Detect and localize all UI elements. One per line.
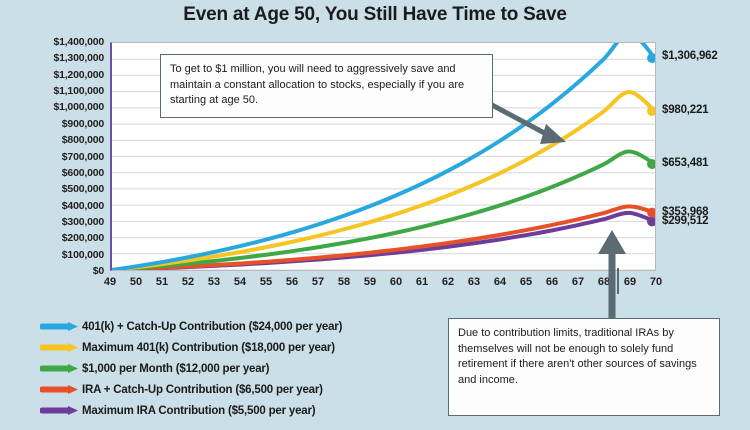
x-axis-tick-label: 67 <box>572 276 584 288</box>
x-axis-tick-label: 56 <box>286 276 298 288</box>
x-axis-tick-label: 62 <box>442 276 454 288</box>
legend-item-label: Maximum 401(k) Contribution ($18,000 per… <box>82 342 335 354</box>
legend-item[interactable]: $1,000 per Month ($12,000 per year) <box>40 358 440 379</box>
x-axis-tick-label: 58 <box>338 276 350 288</box>
legend-item-label: IRA + Catch-Up Contribution ($6,500 per … <box>82 384 323 396</box>
x-axis-tick-label: 68 <box>598 276 610 288</box>
callout-top: To get to $1 million, you will need to a… <box>160 54 493 118</box>
y-axis-tick-label: $900,000 <box>62 118 104 130</box>
x-axis-tick-label: 53 <box>208 276 220 288</box>
x-axis-tick-label: 60 <box>390 276 402 288</box>
x-axis-tick-label: 57 <box>312 276 324 288</box>
legend-color-swatch <box>40 400 80 421</box>
x-axis-tick-label: 50 <box>130 276 142 288</box>
x-axis: 4950515253545556575859606162636465666768… <box>110 276 656 294</box>
x-axis-tick-label: 70 <box>650 276 662 288</box>
y-axis-tick-label: $1,000,000 <box>53 101 104 113</box>
y-axis-tick-label: $800,000 <box>62 134 104 146</box>
x-axis-tick-label: 52 <box>182 276 194 288</box>
x-axis-tick-label: 66 <box>546 276 558 288</box>
legend-color-swatch <box>40 358 80 379</box>
y-axis-tick-label: $1,300,000 <box>53 52 104 64</box>
x-axis-separator <box>617 268 619 294</box>
series-end-value-label: $299,512 <box>662 215 708 227</box>
legend-color-swatch <box>40 379 80 400</box>
y-axis-tick-label: $700,000 <box>62 151 104 163</box>
y-axis-tick-label: $300,000 <box>62 216 104 228</box>
series-end-value-label: $1,306,962 <box>662 50 718 62</box>
y-axis-tick-label: $500,000 <box>62 183 104 195</box>
x-axis-tick-label: 64 <box>494 276 506 288</box>
x-axis-tick-label: 49 <box>104 276 116 288</box>
legend-item-label: 401(k) + Catch-Up Contribution ($24,000 … <box>82 321 342 333</box>
y-axis-tick-label: $1,200,000 <box>53 69 104 81</box>
x-axis-tick-label: 54 <box>234 276 246 288</box>
y-axis-tick-label: $200,000 <box>62 232 104 244</box>
legend-item[interactable]: Maximum 401(k) Contribution ($18,000 per… <box>40 337 440 358</box>
legend-item[interactable]: Maximum IRA Contribution ($5,500 per yea… <box>40 400 440 421</box>
series-line <box>112 92 655 270</box>
x-axis-tick-label: 61 <box>416 276 428 288</box>
series-end-value-label: $980,221 <box>662 104 708 116</box>
legend-color-swatch <box>40 316 80 337</box>
y-axis: $1,400,000$1,300,000$1,200,000$1,100,000… <box>0 42 104 271</box>
y-axis-tick-label: $400,000 <box>62 200 104 212</box>
x-axis-tick-label: 63 <box>468 276 480 288</box>
legend-item-label: Maximum IRA Contribution ($5,500 per yea… <box>82 405 315 417</box>
series-end-value-label: $653,481 <box>662 157 708 169</box>
y-axis-tick-label: $0 <box>93 265 104 277</box>
callout-bottom: Due to contribution limits, traditional … <box>448 318 720 416</box>
y-axis-tick-label: $600,000 <box>62 167 104 179</box>
legend-item[interactable]: 401(k) + Catch-Up Contribution ($24,000 … <box>40 316 440 337</box>
chart-root: Even at Age 50, You Still Have Time to S… <box>0 0 750 430</box>
x-axis-tick-label: 51 <box>156 276 168 288</box>
legend-item[interactable]: IRA + Catch-Up Contribution ($6,500 per … <box>40 379 440 400</box>
legend-color-swatch <box>40 337 80 358</box>
legend: 401(k) + Catch-Up Contribution ($24,000 … <box>40 316 440 421</box>
y-axis-tick-label: $1,100,000 <box>53 85 104 97</box>
x-axis-tick-label: 65 <box>520 276 532 288</box>
series-endpoint-marker <box>647 53 655 63</box>
x-axis-tick-label: 69 <box>624 276 636 288</box>
x-axis-tick-label: 59 <box>364 276 376 288</box>
y-axis-tick-label: $100,000 <box>62 249 104 261</box>
page-title: Even at Age 50, You Still Have Time to S… <box>0 4 750 26</box>
x-axis-tick-label: 55 <box>260 276 272 288</box>
y-axis-tick-label: $1,400,000 <box>53 36 104 48</box>
legend-item-label: $1,000 per Month ($12,000 per year) <box>82 363 269 375</box>
